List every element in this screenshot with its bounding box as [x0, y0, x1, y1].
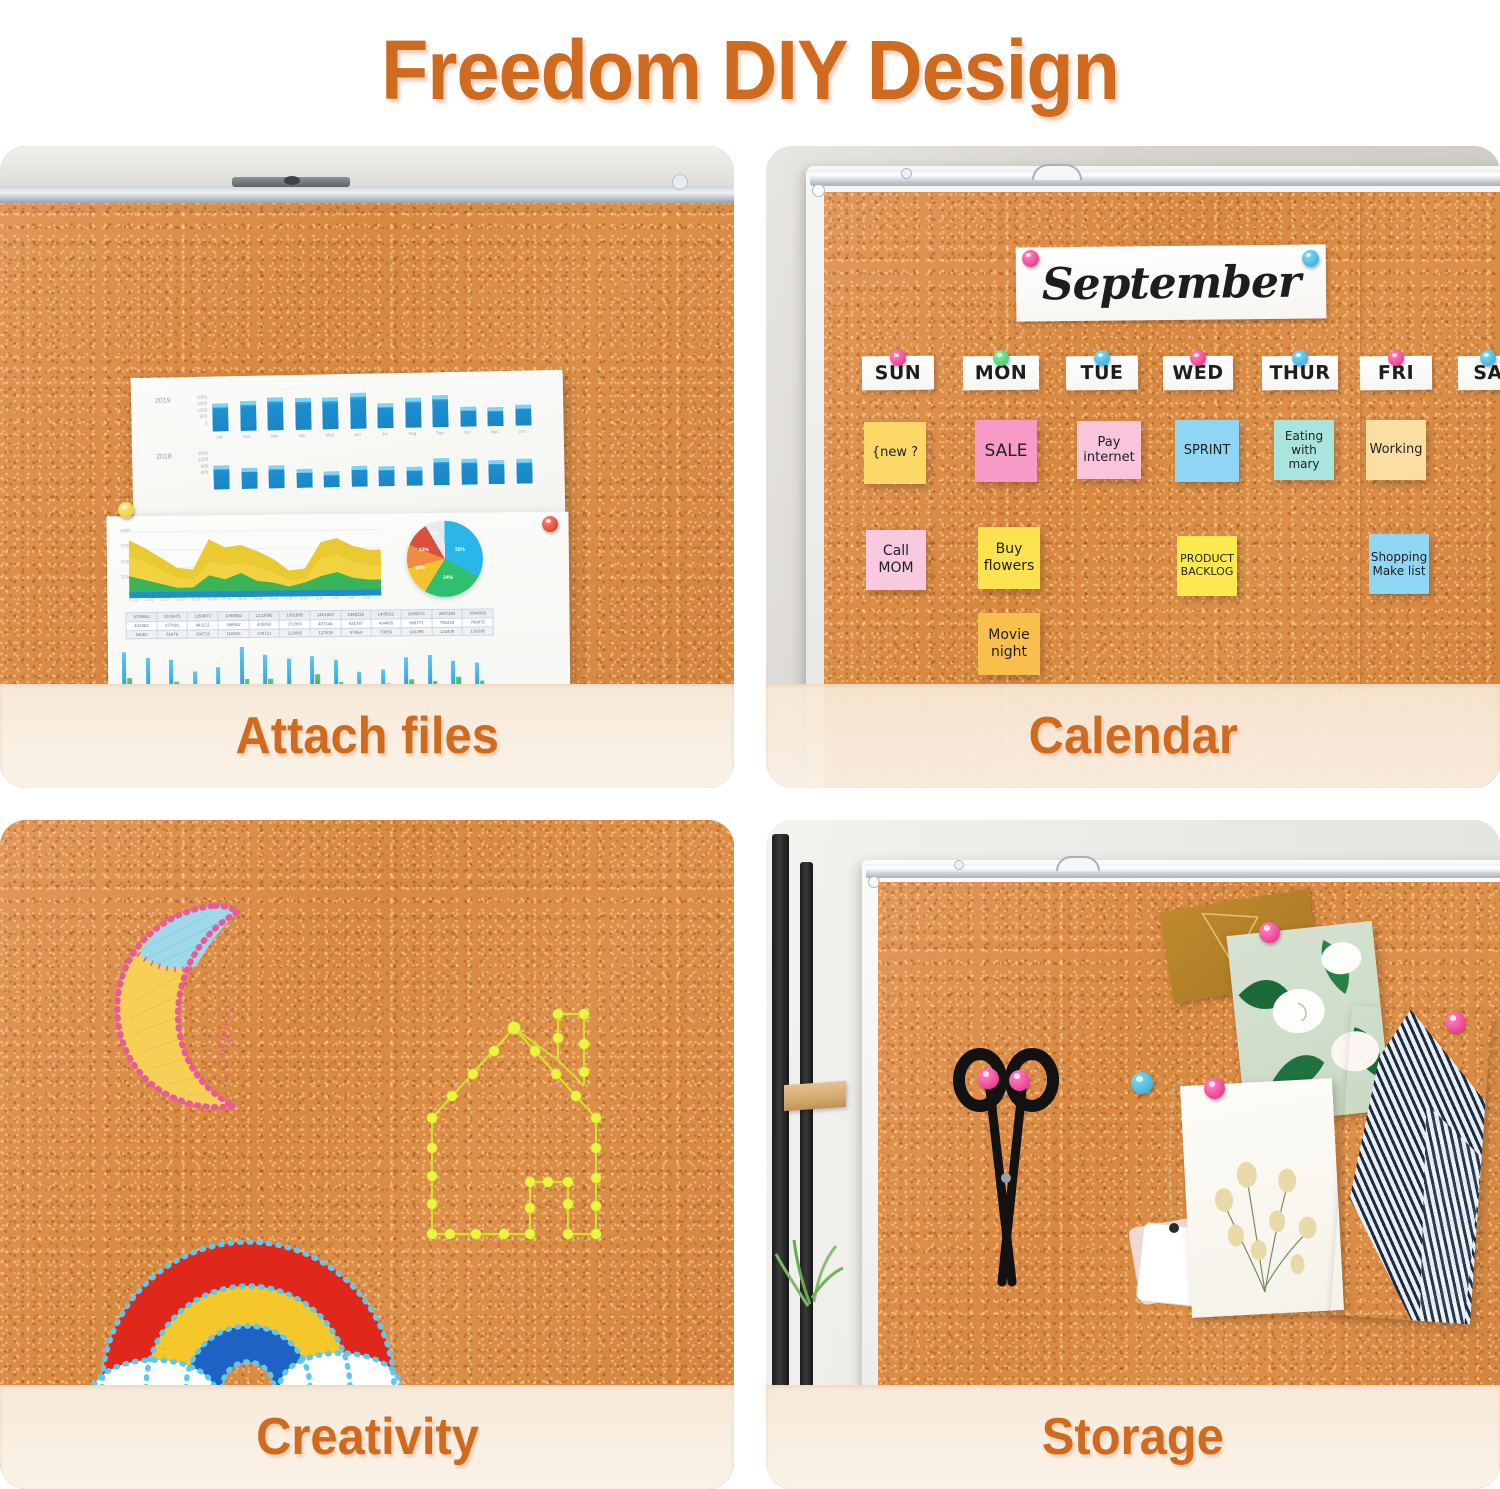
panel-calendar: SeptemberSUNMONTUEWEDTHURFRISA{new ?SALE… — [766, 146, 1500, 788]
pushpin-red[interactable] — [542, 516, 558, 532]
panel-caption-attach: Attach files — [0, 684, 734, 788]
document-bar-chart-sheet: 2019 2000 1500 1000 500 0 JanFebMarAprMa… — [131, 370, 566, 526]
pushpin-blue-sa[interactable] — [1480, 350, 1496, 366]
caption-label: Storage — [1042, 1407, 1224, 1467]
panel-caption-storage: Storage — [766, 1385, 1500, 1489]
x-tick-oct: Oct — [456, 429, 478, 434]
sticky-note[interactable]: {new ? — [864, 422, 926, 484]
table-cell: 106710 — [187, 629, 218, 638]
pushpin-pink-botanical-card[interactable] — [1204, 1078, 1225, 1099]
bar-2018-apr — [295, 468, 313, 489]
bar-2019-aug — [404, 397, 423, 429]
area-x-tick-7: 28.09 — [238, 597, 247, 601]
table-cell: 116916 — [218, 629, 249, 638]
area-x-tick-2: 23.09 — [160, 598, 169, 602]
area-x-tick-3: 24.09 — [176, 598, 185, 602]
plant-icon — [774, 1198, 844, 1308]
table-cell: 141395 — [401, 627, 432, 636]
bar-2019-jun — [348, 392, 367, 430]
chart-y-axis-2018: 1600 1200 800 400 — [188, 451, 208, 477]
bar-2018-oct — [460, 458, 479, 486]
x-tick-jun: Jun — [346, 432, 368, 437]
table-cell: 1486118 — [341, 610, 371, 619]
bar-2018-may — [322, 470, 340, 488]
x-tick-sep: Sep — [429, 430, 451, 435]
pushpin-blue-thur[interactable] — [1292, 350, 1308, 366]
table-cell: 1254873 — [187, 612, 218, 621]
area-x-tick-9: 30.09 — [270, 597, 279, 601]
table-cell: 51878 — [157, 630, 188, 639]
table-cell: 3049365 — [462, 609, 493, 618]
table-cell: 668772 — [401, 618, 432, 627]
x-tick-jan: Jan — [209, 434, 231, 439]
table-cell: 1079653 — [126, 612, 157, 621]
pushpin-blue-tue[interactable] — [1094, 350, 1110, 366]
month-title-card: September — [1016, 244, 1327, 321]
pushpin-pink-sun[interactable] — [890, 350, 906, 366]
sticky-note[interactable]: PRODUCT BACKLOG — [1177, 536, 1237, 596]
pushpin-pink-scissors-right[interactable] — [1009, 1070, 1030, 1091]
table-cell: 1401803 — [310, 610, 341, 619]
area-x-tick-8: 29.09 — [254, 597, 263, 601]
bar-2018-sep — [432, 457, 451, 486]
table-cell: 786228 — [432, 618, 463, 627]
bar-2019-nov — [486, 406, 504, 427]
area-x-tick-6: 27.09 — [223, 597, 232, 601]
x-tick-mar: Mar — [264, 433, 286, 438]
panel-attach-files: 2019 2000 1500 1000 500 0 JanFebMarAprMa… — [0, 146, 734, 788]
x-tick-feb: Feb — [236, 434, 258, 439]
sticky-note[interactable]: Movie night — [978, 613, 1040, 675]
pie-slice-label-4: 13% — [419, 547, 429, 553]
hanger-hook-icon — [1032, 164, 1082, 180]
table-cell: 377081 — [157, 621, 188, 630]
panel-caption-creativity: Creativity — [0, 1385, 734, 1489]
pushpin-pink-scissors-left[interactable] — [978, 1068, 999, 1089]
wooden-shelf — [784, 1081, 846, 1111]
bar-2019-may — [321, 396, 340, 430]
area-x-tick-1: 22.09 — [145, 598, 154, 602]
x-tick-nov: Nov — [484, 429, 506, 434]
table-cell: 401952 — [126, 621, 157, 630]
pie-chart: 32% 34% 15% 13% 6% — [407, 520, 484, 597]
table-cell: 127819 — [310, 628, 341, 637]
striped-cloth — [1330, 1005, 1491, 1324]
sticky-note[interactable]: Working — [1366, 420, 1426, 480]
board-frame-rail — [0, 186, 734, 203]
table-cell: 443211 — [187, 621, 218, 630]
table-cell: 97964 — [341, 628, 371, 637]
bar-2018-jun — [350, 465, 368, 488]
pushpin-pink-floral-card[interactable] — [1259, 922, 1280, 943]
pie-slice-label-5: 6% — [431, 531, 438, 537]
x-tick-may: May — [319, 432, 341, 437]
bar-2018-dec — [515, 457, 534, 484]
area-x-tick-11: 2.10 — [301, 596, 308, 600]
table-cell: 434495 — [371, 619, 401, 628]
pie-slice-label-3: 15% — [415, 565, 425, 571]
pushpin-green-mon[interactable] — [993, 350, 1009, 366]
pushpin-yellow[interactable] — [118, 502, 134, 518]
crescent-moon-string-art — [92, 892, 352, 1122]
x-tick-dec: Dec — [511, 428, 533, 433]
pushpin-blue-month-right[interactable] — [1302, 250, 1319, 267]
table-cell: 435050 — [249, 620, 280, 629]
x-tick-aug: Aug — [401, 431, 423, 436]
table-cell: 132439 — [432, 627, 463, 636]
table-cell: 398542 — [218, 620, 249, 629]
sticky-note[interactable]: Shopping Make list — [1369, 534, 1429, 594]
board-frame-rail — [810, 170, 1500, 186]
screw-icon — [954, 860, 964, 870]
area-x-tick-13: 4.10 — [332, 596, 339, 600]
screw-icon — [672, 174, 688, 190]
scissors-icon[interactable] — [946, 1038, 1066, 1298]
area-x-tick-5: 26.09 — [207, 597, 216, 601]
table-cell: 123092 — [279, 628, 310, 637]
table-cell: 138395 — [462, 626, 493, 635]
chart-year-label-2018: 2018 — [156, 453, 172, 460]
area-x-tick-4: 25.09 — [192, 597, 201, 601]
area-x-tick-12: 3.10 — [316, 596, 323, 600]
sticky-note[interactable]: Call MOM — [866, 530, 926, 590]
area-chart — [129, 524, 382, 599]
area-x-tick-14: 5.10 — [348, 596, 355, 600]
bar-2019-sep — [431, 394, 450, 428]
table-cell: 1405911 — [371, 610, 401, 619]
table-cell: 134713 — [249, 629, 280, 638]
sticky-note[interactable]: SPRINT — [1175, 420, 1239, 482]
table-cell: 1030475 — [157, 612, 188, 621]
chart-year-label-2019: 2019 — [155, 397, 171, 404]
table-cell: 94060 — [126, 630, 157, 639]
pie-slice-label-2: 34% — [443, 575, 453, 581]
bar-2018-nov — [487, 459, 505, 485]
caption-label: Calendar — [1028, 706, 1237, 766]
sticky-note[interactable]: Eating with mary — [1274, 420, 1334, 480]
botanical-card — [1180, 1078, 1344, 1318]
sticky-note[interactable]: Buy flowers — [978, 527, 1040, 589]
data-table: 1079653103047512548731050582122359510516… — [125, 608, 493, 639]
bar-chart-2019 — [211, 388, 542, 432]
bar-2019-apr — [294, 397, 313, 431]
table-cell: 1223595 — [249, 611, 280, 620]
bar-2019-jan — [211, 402, 230, 432]
bar-2019-oct — [459, 406, 477, 428]
sticky-note[interactable]: Pay internet — [1077, 421, 1141, 479]
chart-y-axis-2019: 2000 1500 1000 500 0 — [187, 395, 208, 427]
bar-chart-2018 — [212, 452, 543, 490]
pie-slice-label-1: 32% — [455, 547, 465, 553]
bar-2019-dec — [514, 403, 532, 426]
table-cell: 70059 — [371, 627, 401, 636]
x-tick-jul: Jul — [374, 431, 396, 436]
area-chart-y-axis: 5000 3750 2500 1250 0 — [107, 528, 132, 596]
bar-2018-mar — [267, 464, 285, 489]
pushpin-pink-cloth[interactable] — [1445, 1012, 1466, 1033]
panel-creativity: Creativity — [0, 820, 734, 1489]
caption-label: Creativity — [256, 1407, 479, 1467]
bar-2019-jul — [376, 402, 395, 429]
panel-storage: Storage — [766, 820, 1500, 1489]
table-cell: 1051695 — [279, 611, 310, 620]
hanger-hook-icon — [1056, 856, 1100, 871]
table-cell: 431787 — [341, 619, 371, 628]
panel-caption-calendar: Calendar — [766, 684, 1500, 788]
hanger-hole-icon — [284, 176, 300, 185]
table-cell: 2659073 — [401, 610, 432, 619]
bar-2018-feb — [240, 467, 258, 490]
bar-2018-aug — [405, 466, 423, 487]
x-tick-apr: Apr — [291, 433, 313, 438]
house-outline-string-art — [418, 1008, 658, 1258]
title-bar: Freedom DIY Design — [0, 0, 1500, 140]
area-x-tick-0: 21.09 — [129, 598, 138, 602]
screw-icon — [901, 168, 912, 179]
table-cell: 407144 — [310, 619, 341, 628]
sticky-note[interactable]: SALE — [975, 420, 1037, 482]
pushpin-pink-wed[interactable] — [1190, 350, 1206, 366]
area-x-tick-15: 6.10 — [363, 596, 370, 600]
table-cell: 372060 — [279, 620, 310, 629]
table-cell: 796875 — [462, 618, 493, 627]
area-x-tick-10: 1.10 — [285, 596, 292, 600]
page-title: Freedom DIY Design — [381, 22, 1119, 119]
bar-2018-jan — [212, 464, 230, 490]
bar-2019-mar — [266, 396, 285, 431]
bar-2018-jul — [377, 465, 395, 487]
table-cell: 2697283 — [432, 609, 463, 618]
pushpin-pink-fri[interactable] — [1388, 350, 1404, 366]
bar-2019-feb — [239, 400, 258, 432]
table-cell: 1050582 — [218, 611, 249, 620]
caption-label: Attach files — [235, 706, 498, 766]
pushpin-pink-month-left[interactable] — [1022, 250, 1039, 267]
